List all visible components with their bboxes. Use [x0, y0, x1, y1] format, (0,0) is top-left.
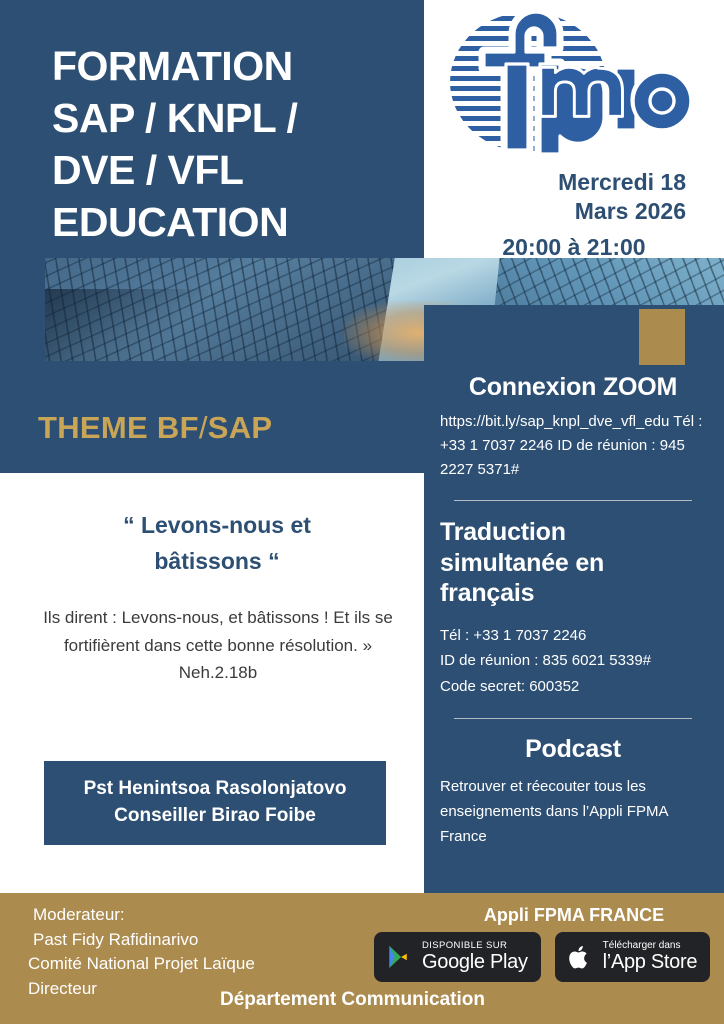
verse-headline-line-1: “ Levons-nous et — [52, 508, 382, 544]
divider-2 — [454, 718, 692, 719]
event-date-line-1: Mercredi 18 — [440, 168, 708, 197]
event-time: 20:00 à 21:00 — [440, 233, 708, 263]
translation-heading-line-2: simultanée en — [440, 548, 706, 579]
zoom-heading: Connexion ZOOM — [440, 373, 706, 402]
store-badges: DISPONIBLE SUR Google Play Télécharger d… — [374, 932, 710, 982]
fpma-logo — [440, 8, 702, 160]
poster-canvas: FORMATION SAP / KNPL / DVE / VFL EDUCATI… — [0, 0, 724, 1024]
speaker-name: Pst Henintsoa Rasolonjatovo — [84, 776, 347, 803]
app-store-small-text: Télécharger dans — [603, 940, 698, 951]
department-label: Département Communication — [220, 989, 485, 1011]
moderator-info: Moderateur: Past Fidy Rafidinarivo Comit… — [28, 903, 255, 1002]
translation-phone: Tél : +33 1 7037 2246 — [440, 623, 706, 649]
translation-heading-line-1: Traduction — [440, 517, 706, 548]
title-line-1: FORMATION — [52, 40, 392, 92]
translation-meeting-id: ID de réunion : 835 6021 5339# — [440, 648, 706, 674]
event-date-line-2: Mars 2026 — [440, 197, 708, 226]
theme-label: THEME BF/SAP — [38, 410, 272, 446]
speaker-role: Conseiller Birao Foibe — [114, 803, 316, 830]
google-play-badge[interactable]: DISPONIBLE SUR Google Play — [374, 932, 541, 982]
podcast-heading: Podcast — [440, 735, 706, 764]
appli-title: Appli FPMA FRANCE — [424, 905, 724, 926]
verse-text-block: Ils dirent : Levons-nous, et bâtissons !… — [40, 604, 396, 687]
app-store-big-text: l’App Store — [603, 951, 698, 973]
verse-body-text: Ils dirent : Levons-nous, et bâtissons !… — [43, 608, 393, 655]
verse-headline-line-2: bâtissons “ — [52, 544, 382, 580]
title-line-4: EDUCATION — [52, 196, 392, 248]
translation-heading-line-3: français — [440, 578, 706, 609]
google-play-small-text: DISPONIBLE SUR — [422, 941, 528, 951]
translation-details: Tél : +33 1 7037 2246 ID de réunion : 83… — [440, 623, 706, 700]
photo-shadow-corner — [45, 289, 208, 361]
google-play-badge-text: DISPONIBLE SUR Google Play — [422, 941, 528, 974]
moderator-label: Moderateur: — [28, 903, 255, 928]
title-line-3: DVE / VFL — [52, 144, 392, 196]
app-store-badge[interactable]: Télécharger dans l’App Store — [555, 932, 711, 982]
title-line-2: SAP / KNPL / — [52, 92, 392, 144]
moderator-name: Past Fidy Rafidinarivo — [28, 928, 255, 953]
apple-icon — [565, 941, 595, 973]
translation-passcode: Code secret: 600352 — [440, 674, 706, 700]
info-panel-content: Connexion ZOOM https://bit.ly/sap_knpl_d… — [424, 305, 724, 893]
translation-heading: Traduction simultanée en français — [440, 517, 706, 609]
page-title: FORMATION SAP / KNPL / DVE / VFL EDUCATI… — [52, 40, 392, 248]
speaker-card: Pst Henintsoa Rasolonjatovo Conseiller B… — [44, 761, 386, 845]
divider-1 — [454, 500, 692, 501]
fpma-globe-cross-logo — [440, 8, 702, 160]
google-play-big-text: Google Play — [422, 951, 528, 973]
verse-headline: “ Levons-nous et bâtissons “ — [52, 508, 382, 579]
verse-reference: Neh.2.18b — [40, 659, 396, 687]
event-date-time: Mercredi 18 Mars 2026 20:00 à 21:00 — [440, 168, 708, 263]
moderator-committee: Comité National Projet Laïque — [28, 952, 255, 977]
google-play-icon — [384, 941, 414, 973]
app-store-badge-text: Télécharger dans l’App Store — [603, 940, 698, 973]
podcast-note: Retrouver et réecouter tous les enseigne… — [440, 774, 706, 850]
zoom-details: https://bit.ly/sap_knpl_dve_vfl_edu Tél … — [440, 410, 706, 482]
